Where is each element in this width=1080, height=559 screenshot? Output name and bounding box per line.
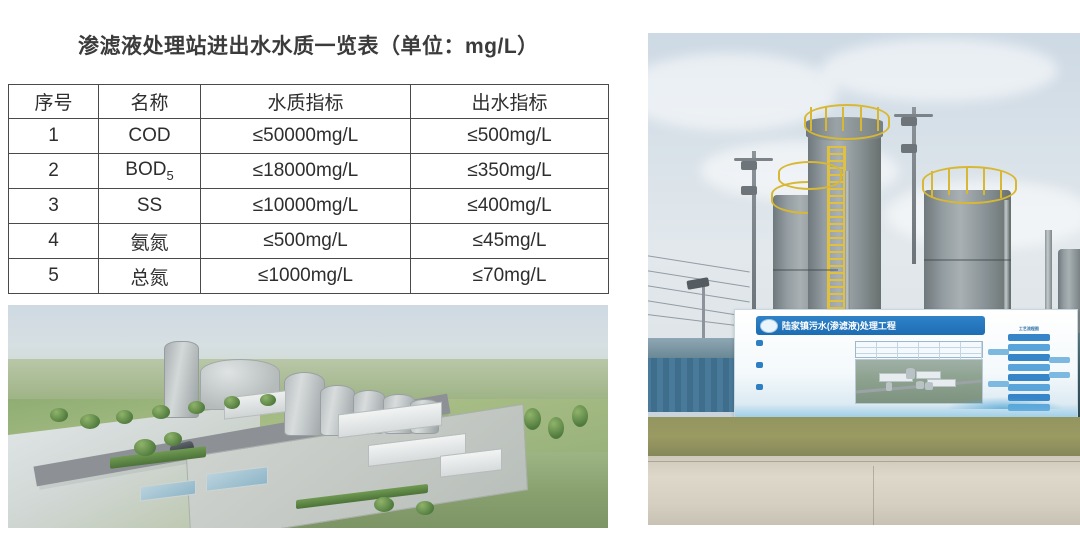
page-title: 渗滤液处理站进出水水质一览表（单位：mg/L） <box>78 30 539 60</box>
column-header-index: 序号 <box>9 85 99 119</box>
site-tanks-photo: 陆家镇污水(渗滤液)处理工程 <box>648 33 1080 525</box>
leachate-water-quality-table: 序号 名称 水质指标 出水指标 1 COD ≤50000mg/L ≤500mg/… <box>8 84 609 294</box>
signboard-section-tag <box>756 362 763 368</box>
antenna-node <box>901 144 917 153</box>
aerial-tree <box>524 408 541 430</box>
flow-side-box <box>1049 372 1070 378</box>
cell-influent: ≤1000mg/L <box>201 259 411 294</box>
tank-band <box>924 259 1010 261</box>
road-seam <box>873 466 874 525</box>
guardrail-post <box>860 107 862 132</box>
guardrail-post <box>931 171 933 198</box>
cell-effluent: ≤45mg/L <box>411 224 609 259</box>
cell-effluent: ≤70mg/L <box>411 259 609 294</box>
antenna-mast <box>912 107 916 264</box>
antenna-arm <box>894 114 933 117</box>
cell-effluent: ≤500mg/L <box>411 119 609 154</box>
aerial-tank <box>284 372 325 436</box>
table-row: 3 SS ≤10000mg/L ≤400mg/L <box>9 189 609 224</box>
cell-index: 5 <box>9 259 99 294</box>
table-row: 5 总氮 ≤1000mg/L ≤70mg/L <box>9 259 609 294</box>
flow-side-box <box>1049 357 1070 363</box>
tank-band <box>773 269 838 271</box>
cell-influent: ≤500mg/L <box>201 224 411 259</box>
cell-name: 总氮 <box>99 259 201 294</box>
guardrail-post <box>825 107 827 132</box>
project-signboard: 陆家镇污水(渗滤液)处理工程 <box>734 309 1077 427</box>
cell-name: COD <box>99 119 201 154</box>
antenna-node <box>741 161 757 170</box>
tank-guardrail <box>922 166 1017 204</box>
cloud <box>821 38 1059 102</box>
flow-step-box <box>1008 354 1051 361</box>
aerial-rendering-photo <box>8 305 608 528</box>
aerial-tree <box>50 408 68 422</box>
column-header-effluent: 出水指标 <box>411 85 609 119</box>
cell-index: 1 <box>9 119 99 154</box>
antenna-node <box>901 117 917 126</box>
flow-side-box <box>988 381 1009 387</box>
signboard-parameter-table <box>855 341 983 358</box>
guardrail-post <box>966 167 968 194</box>
antenna-mast <box>752 151 756 318</box>
guardrail-post <box>1000 171 1002 198</box>
guardrail-post <box>983 168 985 195</box>
cell-influent: ≤18000mg/L <box>201 154 411 189</box>
aerial-tree <box>548 417 564 439</box>
table-row: 1 COD ≤50000mg/L ≤500mg/L <box>9 119 609 154</box>
site-concrete-road <box>648 456 1080 525</box>
cell-effluent: ≤350mg/L <box>411 154 609 189</box>
signboard-paragraph <box>756 362 848 380</box>
aerial-tree <box>188 401 205 414</box>
cell-name-subscript: 5 <box>166 168 173 183</box>
guardrail-post <box>948 168 950 195</box>
table-header-row: 序号 名称 水质指标 出水指标 <box>9 85 609 119</box>
aerial-tree <box>116 410 133 424</box>
antenna-node <box>741 186 757 195</box>
guardrail-post <box>810 107 812 132</box>
aerial-tree <box>164 432 182 446</box>
aerial-tree <box>374 497 394 512</box>
company-logo-icon <box>760 319 778 333</box>
cell-index: 4 <box>9 224 99 259</box>
cell-name-text: BOD <box>125 159 166 180</box>
cell-name: 氨氮 <box>99 224 201 259</box>
aerial-tree <box>134 439 156 456</box>
road-seam <box>648 461 1080 462</box>
signboard-section-tag <box>756 384 763 390</box>
cell-index: 2 <box>9 154 99 189</box>
guardrail-post <box>877 107 879 132</box>
signboard-text-column <box>756 340 848 407</box>
column-header-name: 名称 <box>99 85 201 119</box>
site-grass-strip <box>648 417 1080 456</box>
signboard-title: 陆家镇污水(渗滤液)处理工程 <box>782 319 896 332</box>
cell-name: SS <box>99 189 201 224</box>
signboard-banner: 陆家镇污水(渗滤液)处理工程 <box>756 316 985 334</box>
flow-side-box <box>988 349 1009 355</box>
guardrail-post <box>842 107 844 132</box>
cell-name: BOD5 <box>99 154 201 189</box>
flow-step-box <box>1008 374 1051 381</box>
table-row: 2 BOD5 ≤18000mg/L ≤350mg/L <box>9 154 609 189</box>
table-row: 4 氨氮 ≤500mg/L ≤45mg/L <box>9 224 609 259</box>
flow-step-box <box>1008 384 1051 391</box>
tank-guardrail <box>778 161 842 190</box>
cell-influent: ≤10000mg/L <box>201 189 411 224</box>
signboard-wave-decoration2 <box>947 397 1063 409</box>
flow-step-box <box>1008 334 1051 341</box>
flow-step-box <box>1008 364 1051 371</box>
column-header-influent: 水质指标 <box>201 85 411 119</box>
signboard-paragraph <box>756 340 848 358</box>
cell-index: 3 <box>9 189 99 224</box>
signboard-section-tag <box>756 340 763 346</box>
antenna-arm <box>734 158 773 161</box>
signboard-paragraph <box>756 384 848 402</box>
flow-diagram-title: 工艺流程图 <box>988 326 1070 332</box>
flow-step-box <box>1008 344 1051 351</box>
cell-effluent: ≤400mg/L <box>411 189 609 224</box>
cell-influent: ≤50000mg/L <box>201 119 411 154</box>
